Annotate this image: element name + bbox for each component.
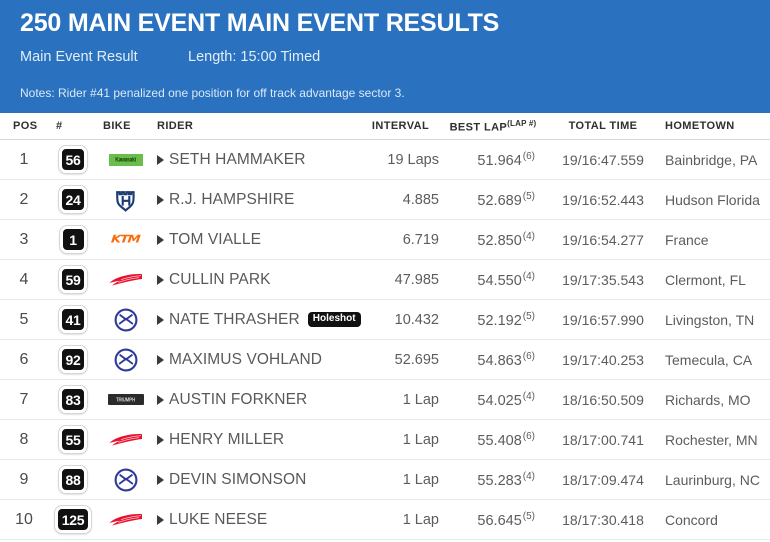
cell-interval: 6.719 [358, 232, 443, 248]
cell-bike-brand [98, 188, 153, 212]
rider-name: SETH HAMMAKER [169, 151, 306, 169]
column-header-best-lap: BEST LAP(LAP #) [443, 119, 543, 134]
best-lap-time: 55.283 [477, 472, 521, 488]
cell-rider[interactable]: DEVIN SIMONSON [153, 471, 358, 489]
table-row[interactable]: 855HENRY MILLER1 Lap55.408(6)18/17:00.74… [0, 420, 770, 460]
cell-rider[interactable]: AUSTIN FORKNER [153, 391, 358, 409]
kawasaki-wordmark: Kawasaki [115, 156, 135, 164]
cell-position: 8 [0, 431, 48, 449]
best-lap-time: 52.850 [477, 232, 521, 248]
cell-rider-number: 83 [48, 386, 98, 413]
best-lap-time: 54.025 [477, 392, 521, 408]
rider-name: LUKE NEESE [169, 511, 267, 529]
best-lap-lap-number: (6) [523, 431, 535, 442]
cell-best-lap: 55.283(4) [443, 471, 543, 489]
expand-triangle-icon[interactable] [157, 435, 164, 445]
table-row[interactable]: 783TRIUMPHAUSTIN FORKNER1 Lap54.025(4)18… [0, 380, 770, 420]
best-lap-time: 51.964 [477, 152, 521, 168]
table-row[interactable]: 459CULLIN PARK47.98554.550(4)19/17:35.54… [0, 260, 770, 300]
table-row[interactable]: 692MAXIMUS VOHLAND52.69554.863(6)19/17:4… [0, 340, 770, 380]
cell-total-time: 18/17:09.474 [543, 472, 663, 488]
cell-best-lap: 52.850(4) [443, 231, 543, 249]
cell-position: 7 [0, 391, 48, 409]
best-lap-text: BEST LAP [450, 121, 508, 133]
cell-total-time: 19/16:54.277 [543, 232, 663, 248]
husqvarna-logo-icon [115, 188, 137, 212]
cell-position: 4 [0, 271, 48, 289]
expand-triangle-icon[interactable] [157, 475, 164, 485]
cell-bike-brand [98, 271, 153, 289]
cell-rider[interactable]: TOM VIALLE [153, 231, 358, 249]
triumph-wordmark: TRIUMPH [116, 396, 135, 403]
cell-total-time: 19/16:47.559 [543, 152, 663, 168]
number-plate-badge: 83 [59, 386, 88, 413]
table-row[interactable]: 156KawasakiSETH HAMMAKER19 Laps51.964(6)… [0, 140, 770, 180]
cell-position: 5 [0, 311, 48, 329]
expand-triangle-icon[interactable] [157, 235, 164, 245]
expand-triangle-icon[interactable] [157, 275, 164, 285]
table-row[interactable]: 31KTMTOM VIALLE6.71952.850(4)19/16:54.27… [0, 220, 770, 260]
best-lap-time: 52.192 [477, 312, 521, 328]
holeshot-badge: Holeshot [308, 312, 361, 327]
cell-interval: 1 Lap [358, 472, 443, 488]
rider-name: AUSTIN FORKNER [169, 391, 307, 409]
rider-name: HENRY MILLER [169, 431, 284, 449]
cell-interval: 47.985 [358, 272, 443, 288]
cell-total-time: 19/17:35.543 [543, 272, 663, 288]
results-header: 250 MAIN EVENT MAIN EVENT RESULTS Main E… [0, 0, 770, 113]
cell-hometown: Rochester, MN [663, 432, 770, 448]
cell-rider[interactable]: R.J. HAMPSHIRE [153, 191, 358, 209]
cell-position: 9 [0, 471, 48, 489]
honda-logo-icon [109, 271, 143, 289]
expand-triangle-icon[interactable] [157, 195, 164, 205]
honda-logo-icon [109, 511, 143, 529]
best-lap-superscript: (LAP #) [507, 119, 536, 128]
number-plate-badge: 55 [59, 426, 88, 453]
race-length-label: Length: 15:00 Timed [188, 48, 320, 66]
best-lap-lap-number: (6) [523, 351, 535, 362]
cell-bike-brand [98, 348, 153, 372]
cell-bike-brand: TRIUMPH [98, 394, 153, 405]
ktm-wordmark: KTM [111, 233, 141, 245]
column-header-interval: INTERVAL [358, 120, 443, 132]
cell-rider[interactable]: MAXIMUS VOHLAND [153, 351, 358, 369]
cell-best-lap: 52.192(5) [443, 311, 543, 329]
best-lap-time: 55.408 [477, 432, 521, 448]
column-header-total-time: TOTAL TIME [543, 120, 663, 132]
cell-hometown: Laurinburg, NC [663, 472, 770, 488]
cell-hometown: Richards, MO [663, 392, 770, 408]
rider-name: TOM VIALLE [169, 231, 261, 249]
table-row[interactable]: 10125LUKE NEESE1 Lap56.645(5)18/17:30.41… [0, 500, 770, 540]
table-header-row: POS # BIKE RIDER INTERVAL BEST LAP(LAP #… [0, 113, 770, 140]
rider-name: DEVIN SIMONSON [169, 471, 306, 489]
best-lap-lap-number: (4) [523, 271, 535, 282]
race-results-page: 250 MAIN EVENT MAIN EVENT RESULTS Main E… [0, 0, 770, 542]
cell-hometown: Clermont, FL [663, 272, 770, 288]
cell-bike-brand: Kawasaki [98, 154, 153, 166]
number-plate-badge: 56 [59, 146, 88, 173]
best-lap-lap-number: (4) [523, 231, 535, 242]
best-lap-lap-number: (5) [523, 191, 535, 202]
cell-rider-number: 56 [48, 146, 98, 173]
cell-rider-number: 125 [48, 506, 98, 533]
cell-position: 1 [0, 151, 48, 169]
cell-interval: 52.695 [358, 352, 443, 368]
cell-bike-brand [98, 468, 153, 492]
cell-interval: 1 Lap [358, 432, 443, 448]
yamaha-logo-icon [114, 468, 138, 492]
cell-interval: 10.432 [358, 312, 443, 328]
cell-total-time: 19/16:52.443 [543, 192, 663, 208]
number-plate-badge: 59 [59, 266, 88, 293]
cell-best-lap: 54.863(6) [443, 351, 543, 369]
best-lap-lap-number: (4) [523, 471, 535, 482]
column-header-pos: POS [0, 120, 48, 132]
rider-name: MAXIMUS VOHLAND [169, 351, 322, 369]
cell-rider-number: 92 [48, 346, 98, 373]
column-header-hometown: HOMETOWN [663, 120, 770, 132]
expand-triangle-icon[interactable] [157, 355, 164, 365]
cell-rider-number: 24 [48, 186, 98, 213]
honda-logo-icon [109, 431, 143, 449]
rider-name: CULLIN PARK [169, 271, 271, 289]
cell-interval: 19 Laps [358, 152, 443, 168]
cell-hometown: Bainbridge, PA [663, 152, 770, 168]
cell-best-lap: 52.689(5) [443, 191, 543, 209]
cell-rider[interactable]: LUKE NEESE [153, 511, 358, 529]
cell-position: 6 [0, 351, 48, 369]
cell-hometown: Temecula, CA [663, 352, 770, 368]
result-type-label: Main Event Result [20, 48, 188, 66]
best-lap-lap-number: (5) [523, 511, 535, 522]
best-lap-time: 56.645 [477, 512, 521, 528]
cell-interval: 1 Lap [358, 392, 443, 408]
number-plate-badge: 41 [59, 306, 88, 333]
column-header-rider: RIDER [153, 120, 358, 132]
cell-best-lap: 51.964(6) [443, 151, 543, 169]
cell-bike-brand [98, 431, 153, 449]
race-notes: Notes: Rider #41 penalized one position … [20, 85, 405, 101]
number-plate-badge: 92 [59, 346, 88, 373]
cell-rider-number: 1 [48, 226, 98, 253]
expand-triangle-icon[interactable] [157, 515, 164, 525]
column-header-bike: BIKE [98, 120, 153, 132]
cell-rider[interactable]: HENRY MILLER [153, 431, 358, 449]
table-body: 156KawasakiSETH HAMMAKER19 Laps51.964(6)… [0, 140, 770, 540]
cell-bike-brand [98, 308, 153, 332]
cell-hometown: Concord [663, 512, 770, 528]
best-lap-lap-number: (5) [523, 311, 535, 322]
page-title: 250 MAIN EVENT MAIN EVENT RESULTS [20, 7, 750, 39]
cell-position: 10 [0, 511, 48, 529]
best-lap-time: 54.863 [477, 352, 521, 368]
table-row[interactable]: 988DEVIN SIMONSON1 Lap55.283(4)18/17:09.… [0, 460, 770, 500]
cell-hometown: France [663, 232, 770, 248]
cell-position: 3 [0, 231, 48, 249]
yamaha-logo-icon [114, 348, 138, 372]
number-plate-badge: 24 [59, 186, 88, 213]
table-row[interactable]: 541NATE THRASHERHoleshot10.43252.192(5)1… [0, 300, 770, 340]
cell-rider[interactable]: SETH HAMMAKER [153, 151, 358, 169]
best-lap-time: 52.689 [477, 192, 521, 208]
header-subtitle: Main Event Result Length: 15:00 Timed [20, 48, 750, 66]
cell-position: 2 [0, 191, 48, 209]
cell-interval: 1 Lap [358, 512, 443, 528]
cell-rider-number: 55 [48, 426, 98, 453]
best-lap-lap-number: (4) [523, 391, 535, 402]
table-row[interactable]: 224R.J. HAMPSHIRE4.88552.689(5)19/16:52.… [0, 180, 770, 220]
best-lap-lap-number: (6) [523, 151, 535, 162]
number-plate-badge: 88 [59, 466, 88, 493]
triumph-logo-icon: TRIUMPH [108, 394, 144, 405]
results-table: POS # BIKE RIDER INTERVAL BEST LAP(LAP #… [0, 113, 770, 540]
rider-name: R.J. HAMPSHIRE [169, 191, 294, 209]
expand-triangle-icon[interactable] [157, 395, 164, 405]
kawasaki-logo-icon: Kawasaki [109, 154, 143, 166]
expand-triangle-icon[interactable] [157, 155, 164, 165]
number-plate-badge: 1 [60, 226, 87, 253]
cell-bike-brand: KTM [98, 232, 153, 247]
cell-hometown: Livingston, TN [663, 312, 770, 328]
cell-total-time: 18/17:30.418 [543, 512, 663, 528]
cell-best-lap: 56.645(5) [443, 511, 543, 529]
cell-bike-brand [98, 511, 153, 529]
cell-best-lap: 54.550(4) [443, 271, 543, 289]
cell-total-time: 19/16:57.990 [543, 312, 663, 328]
best-lap-time: 54.550 [477, 272, 521, 288]
cell-rider-number: 59 [48, 266, 98, 293]
cell-rider[interactable]: CULLIN PARK [153, 271, 358, 289]
cell-total-time: 18/16:50.509 [543, 392, 663, 408]
cell-best-lap: 54.025(4) [443, 391, 543, 409]
cell-hometown: Hudson Florida [663, 192, 770, 208]
cell-interval: 4.885 [358, 192, 443, 208]
ktm-logo-icon: KTM [111, 232, 139, 247]
cell-rider[interactable]: NATE THRASHERHoleshot [153, 311, 358, 329]
cell-total-time: 19/17:40.253 [543, 352, 663, 368]
expand-triangle-icon[interactable] [157, 315, 164, 325]
cell-best-lap: 55.408(6) [443, 431, 543, 449]
cell-rider-number: 41 [48, 306, 98, 333]
cell-rider-number: 88 [48, 466, 98, 493]
yamaha-logo-icon [114, 308, 138, 332]
number-plate-badge: 125 [55, 506, 91, 533]
cell-total-time: 18/17:00.741 [543, 432, 663, 448]
rider-name: NATE THRASHER [169, 311, 300, 329]
column-header-number: # [48, 120, 98, 132]
